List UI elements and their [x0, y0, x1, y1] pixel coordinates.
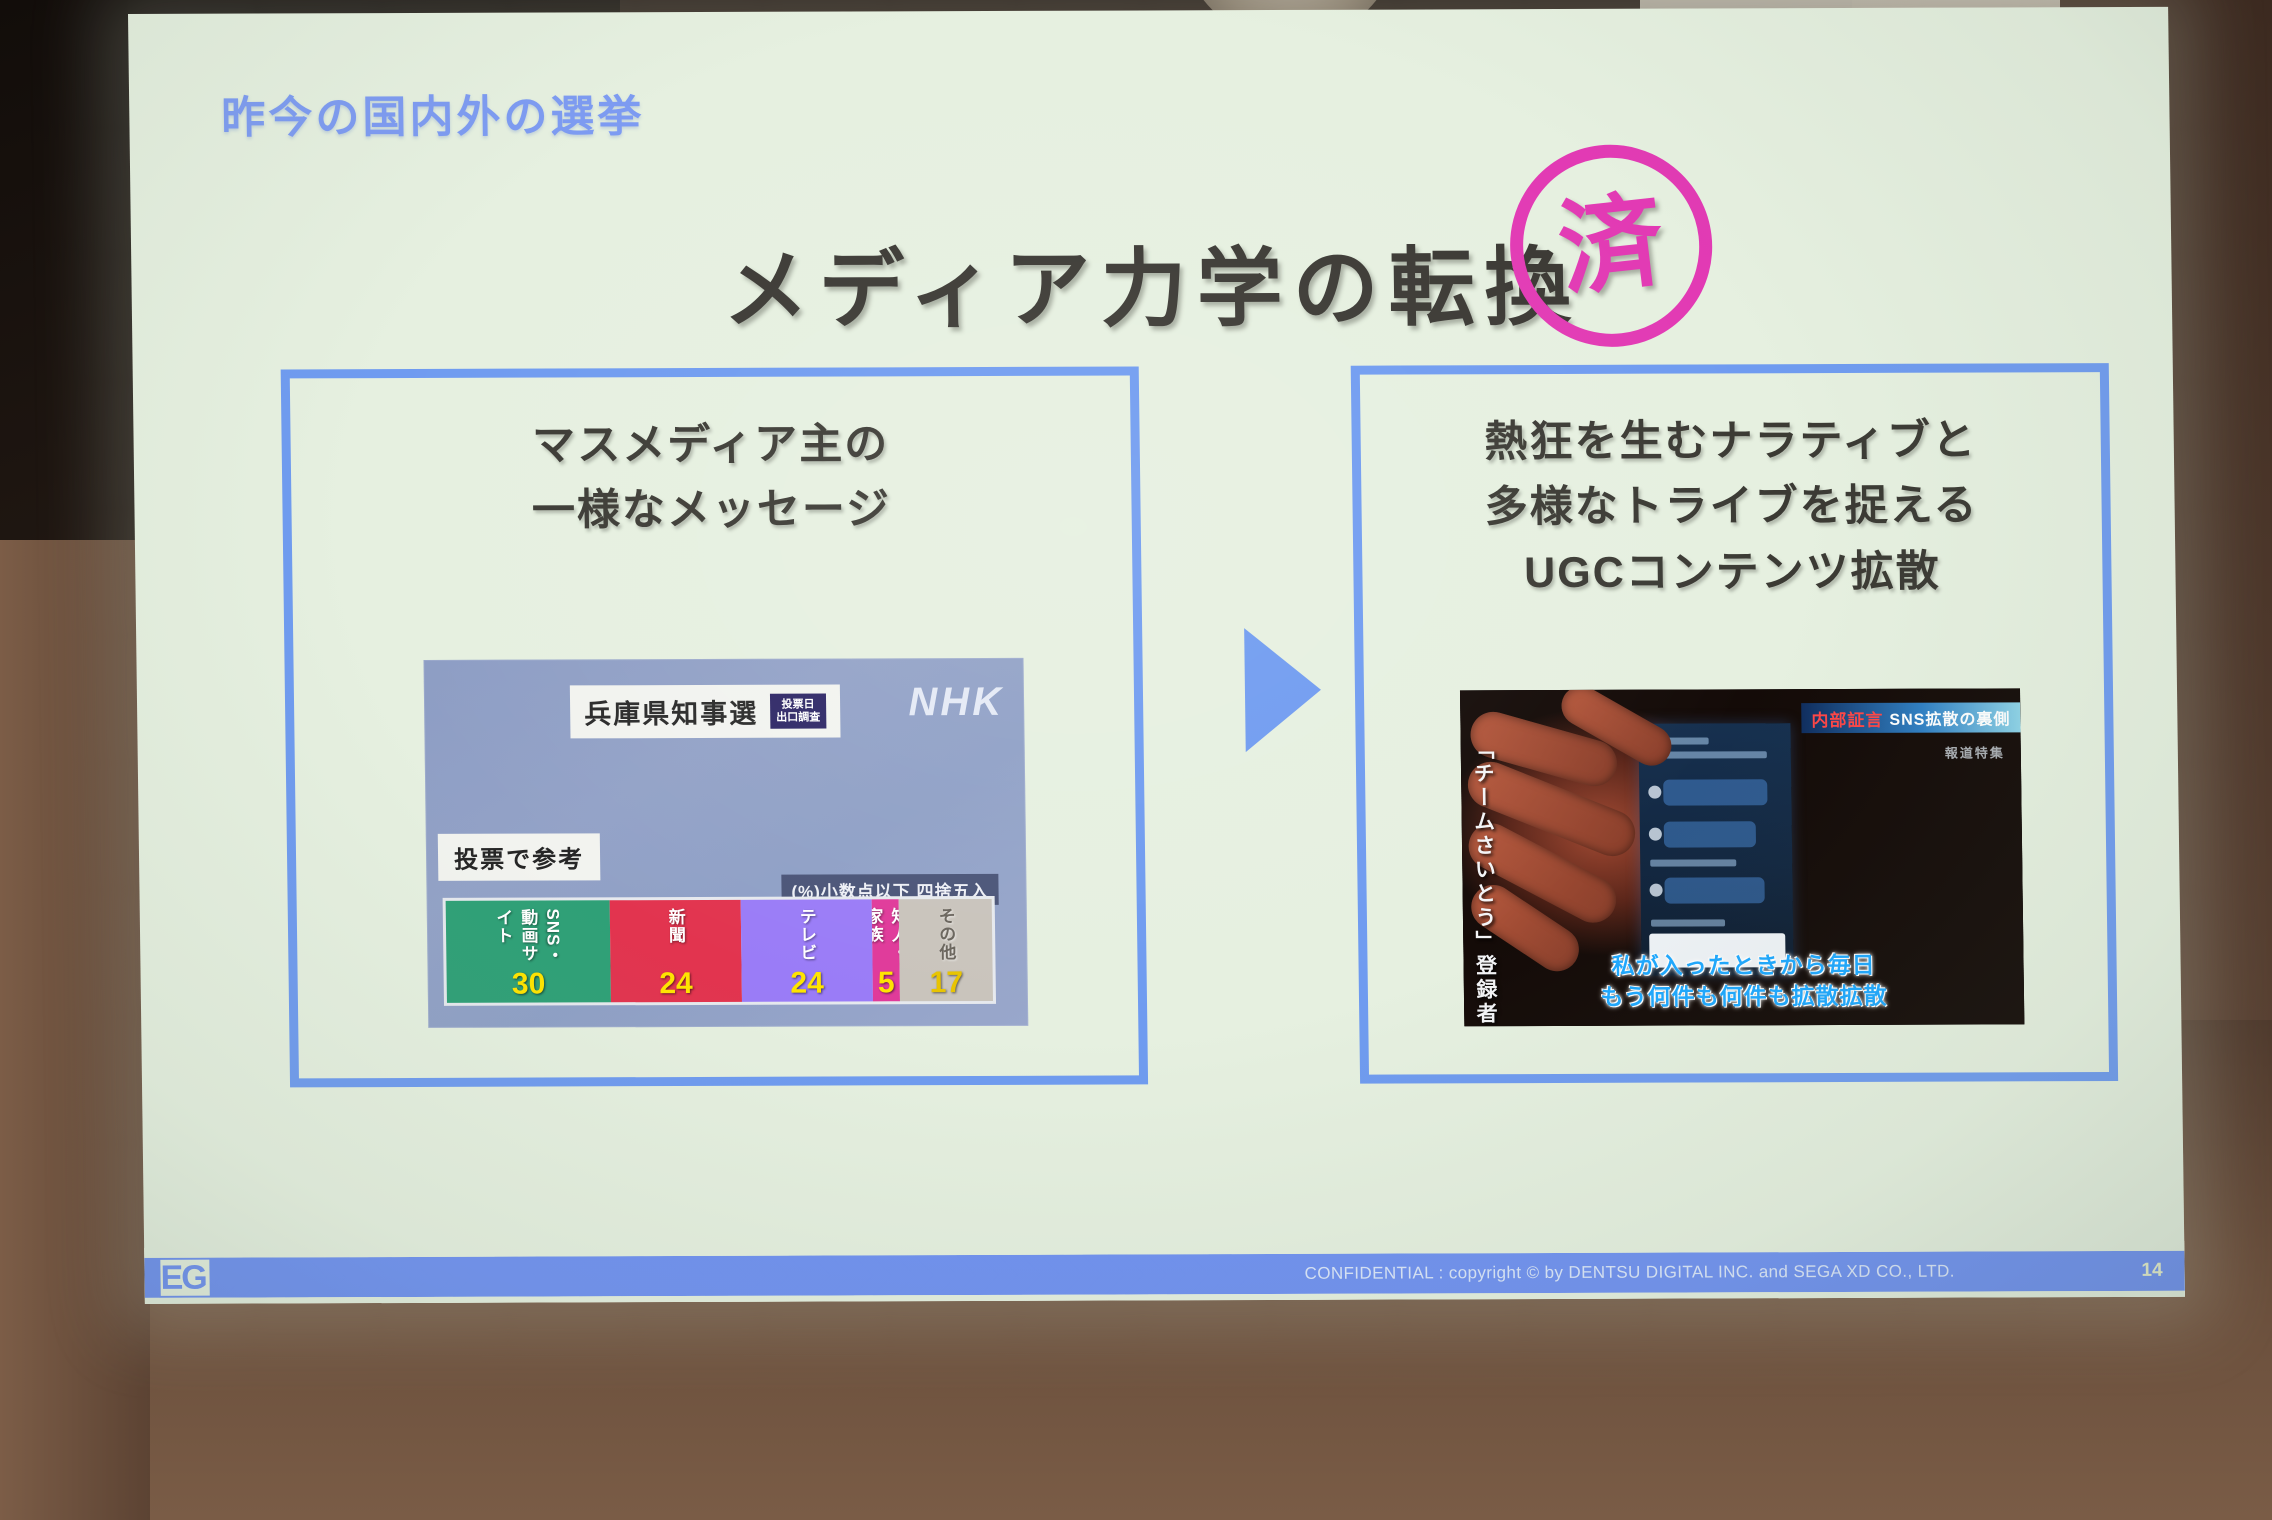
panel-left-line-2: 一様なメッセージ [291, 477, 1132, 545]
bar-segment: その他17 [899, 899, 993, 1001]
nhk-survey-badge: 投票日出口調査 [770, 693, 826, 728]
nhk-headline: 兵庫県知事選 [584, 692, 759, 732]
nhk-logo: NHK [908, 680, 1004, 725]
bar-segment-value: 24 [790, 969, 824, 999]
bar-segment-value: 24 [659, 969, 693, 999]
nhk-sublabel: 投票で参考 [438, 833, 601, 881]
tv-news-still: 内部証言 SNS拡散の裏側 報道特集 「チームさいとう」登録者 私が入ったときか… [1460, 688, 2024, 1026]
bar-segment-label: SNS・動画サイト [490, 908, 566, 969]
chevron-icon [830, 1255, 873, 1295]
chevron-icon [788, 1255, 831, 1295]
chevron-icon [1124, 1254, 1167, 1294]
tv-program-name: 報道特集 [1945, 742, 2005, 761]
panel-mass-media: マスメディア主の 一様なメッセージ NHK 兵庫県知事選 投票日出口調査 投票で… [281, 366, 1148, 1087]
chevron-icon [494, 1257, 537, 1297]
chevron-icon [872, 1255, 915, 1295]
ribbon-red-text: 内部証言 [1811, 705, 1883, 730]
left-pillar [0, 540, 150, 1520]
chevron-icon [326, 1257, 369, 1297]
bar-segment-value: 5 [878, 968, 895, 998]
bar-segment-label: 新聞 [663, 908, 688, 944]
nhk-headline-box: 兵庫県知事選 投票日出口調査 [570, 684, 841, 738]
panel-right-text: 熱狂を生むナラティブと 多様なトライブを捉える UGCコンテンツ拡散 [1360, 408, 2103, 607]
slide: 昨今の国内外の選挙 メディア力学の転換 済 マスメディア主の 一様なメッセージ … [128, 7, 2185, 1304]
chevron-icon [578, 1256, 621, 1296]
chevron-icon [242, 1257, 285, 1297]
slide-title-text: メディア力学の転換 済 [722, 217, 1582, 345]
chevron-icon [536, 1256, 579, 1296]
slide-title-row: メディア力学の転換 済 [131, 215, 2173, 347]
exit-poll-bar-chart: SNS・動画サイト30新聞24テレビ24知人・家族5その他17 [443, 896, 996, 1006]
chevron-icon [998, 1255, 1041, 1295]
chevron-icon [620, 1256, 663, 1296]
bar-segment-value: 30 [512, 970, 546, 1000]
bar-segment-value: 17 [929, 968, 963, 998]
bar-segment: 知人・家族5 [872, 899, 901, 1001]
chevron-icon [746, 1256, 789, 1296]
projection-screen: 昨今の国内外の選挙 メディア力学の転換 済 マスメディア主の 一様なメッセージ … [128, 7, 2185, 1304]
panel-ugc: 熱狂を生むナラティブと 多様なトライブを捉える UGCコンテンツ拡散 [1351, 363, 2118, 1084]
tv-subtitle-line-2: もう何件も何件も拡散拡散 [1464, 980, 2024, 1012]
nhk-exit-poll-graphic: NHK 兵庫県知事選 投票日出口調査 投票で参考 (%)小数点以下 四捨五入 S… [423, 658, 1028, 1028]
chevron-icon [1040, 1255, 1083, 1295]
panel-left-line-1: マスメディア主の [290, 411, 1131, 479]
chevron-icon [284, 1257, 327, 1297]
bar-segment-label: 知人・家族 [872, 907, 901, 968]
tv-subtitle: 私が入ったときから毎日 もう何件も何件も拡散拡散 [1463, 950, 2024, 1013]
chevron-icon [1208, 1254, 1249, 1294]
chevron-icon [368, 1257, 411, 1297]
tv-ribbon-banner: 内部証言 SNS拡散の裏側 [1801, 702, 2020, 733]
panel-right-line-1: 熱狂を生むナラティブと [1360, 408, 2101, 476]
bar-segment: SNS・動画サイト30 [446, 900, 611, 1003]
ribbon-white-text: SNS拡散の裏側 [1889, 705, 2010, 729]
bar-segment-label: テレビ [794, 908, 820, 962]
slide-kicker: 昨今の国内外の選挙 [221, 80, 645, 145]
bar-segment: テレビ24 [740, 899, 872, 1001]
chevron-icon [1166, 1254, 1209, 1294]
tv-subtitle-line-1: 私が入ったときから毎日 [1463, 950, 2023, 982]
chevron-icon [662, 1256, 705, 1296]
chevron-icon [914, 1255, 957, 1295]
panel-left-text: マスメディア主の 一様なメッセージ [290, 411, 1132, 545]
right-triangle-arrow-icon [1244, 628, 1322, 752]
footer-page-number: 14 [2141, 1251, 2163, 1291]
chevron-icon [956, 1255, 999, 1295]
bar-segment-label: その他 [933, 907, 959, 961]
eg-logo: EG [160, 1260, 210, 1296]
chevron-icon [410, 1257, 453, 1297]
title-label: メディア力学の転換 [722, 240, 1581, 339]
chevron-icon [704, 1256, 747, 1296]
footer-chevron-pattern [158, 1254, 1249, 1298]
footer-copyright: CONFIDENTIAL : copyright © by DENTSU DIG… [1304, 1252, 1955, 1294]
chevron-icon [1082, 1254, 1125, 1294]
chevron-icon [452, 1257, 495, 1297]
bar-segment: 新聞24 [609, 900, 741, 1002]
panel-right-line-3: UGCコンテンツ拡散 [1362, 539, 2103, 607]
panel-right-line-2: 多様なトライブを捉える [1361, 473, 2102, 541]
slide-footer: EG CONFIDENTIAL : copyright © by DENTSU … [144, 1241, 2185, 1304]
